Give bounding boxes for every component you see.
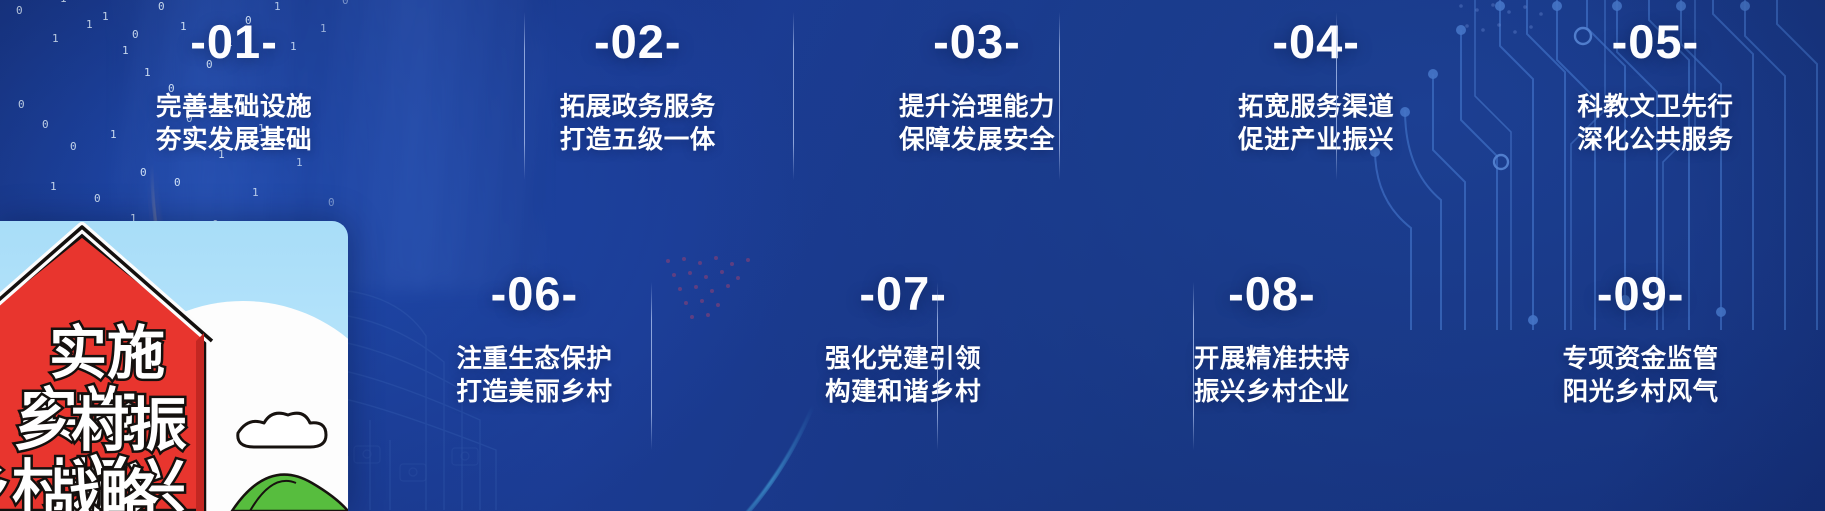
divider-bottom-3 [1193,282,1194,450]
item-number: -02- [468,18,807,65]
item-line-1: 提升治理能力 [807,91,1146,124]
item-number: -04- [1147,18,1486,65]
item-04[interactable]: -04- 拓宽服务渠道 促进产业振兴 [1147,0,1486,190]
item-05[interactable]: -05- 科教文卫先行 深化公共服务 [1486,0,1825,190]
illustration-caption-line-2: 乡村振兴 [0,453,186,511]
item-number: -08- [1088,270,1457,317]
item-line-1: 专项资金监管 [1456,343,1825,376]
illustration-caption-line-1: 实施 [20,381,136,449]
item-line-2: 振兴乡村企业 [1088,376,1457,409]
top-row: -01- 完善基础设施 夯实发展基础 -02- 拓展政务服务 打造五级一体 -0… [0,0,1825,190]
item-number: -06- [350,270,719,317]
item-03[interactable]: -03- 提升治理能力 保障发展安全 [807,0,1146,190]
red-house-illustration: 实施 乡村振兴 [0,221,348,511]
item-line-2: 阳光乡村风气 [1456,376,1825,409]
divider-top-3 [1059,12,1060,180]
divider-bottom-2 [937,282,938,450]
item-line-1: 注重生态保护 [350,343,719,376]
item-line-2: 促进产业振兴 [1147,124,1486,157]
item-number: -03- [807,18,1146,65]
poster-stage: 010 101 101 101 100 110 101 000 100 111 … [0,0,1825,511]
item-line-2: 打造五级一体 [468,124,807,157]
item-number: -01- [0,18,468,65]
item-06[interactable]: -06- 注重生态保护 打造美丽乡村 [350,258,719,458]
item-line-2: 深化公共服务 [1486,124,1825,157]
item-number: -09- [1456,270,1825,317]
item-01[interactable]: -01- 完善基础设施 夯实发展基础 [0,0,468,190]
item-line-2: 打造美丽乡村 [350,376,719,409]
item-number: -07- [719,270,1088,317]
item-line-1: 强化党建引领 [719,343,1088,376]
divider-top-4 [1336,12,1337,180]
item-line-2: 保障发展安全 [807,124,1146,157]
item-line-1: 拓宽服务渠道 [1147,91,1486,124]
item-07[interactable]: -07- 强化党建引领 构建和谐乡村 [719,258,1088,458]
item-line-1: 科教文卫先行 [1486,91,1825,124]
item-02[interactable]: -02- 拓展政务服务 打造五级一体 [468,0,807,190]
item-08[interactable]: -08- 开展精准扶持 振兴乡村企业 [1088,258,1457,458]
item-line-2: 构建和谐乡村 [719,376,1088,409]
item-line-1: 完善基础设施 [0,91,468,124]
divider-top-2 [793,12,794,180]
divider-bottom-1 [651,282,652,450]
rural-revitalization-illustration-card[interactable]: 实施 乡村振兴 实施 乡村振兴 战略 [0,221,348,511]
item-line-1: 开展精准扶持 [1088,343,1457,376]
item-line-2: 夯实发展基础 [0,124,468,157]
item-number: -05- [1486,18,1825,65]
item-line-1: 拓展政务服务 [468,91,807,124]
divider-top-1 [524,12,525,180]
item-09[interactable]: -09- 专项资金监管 阳光乡村风气 [1456,258,1825,458]
